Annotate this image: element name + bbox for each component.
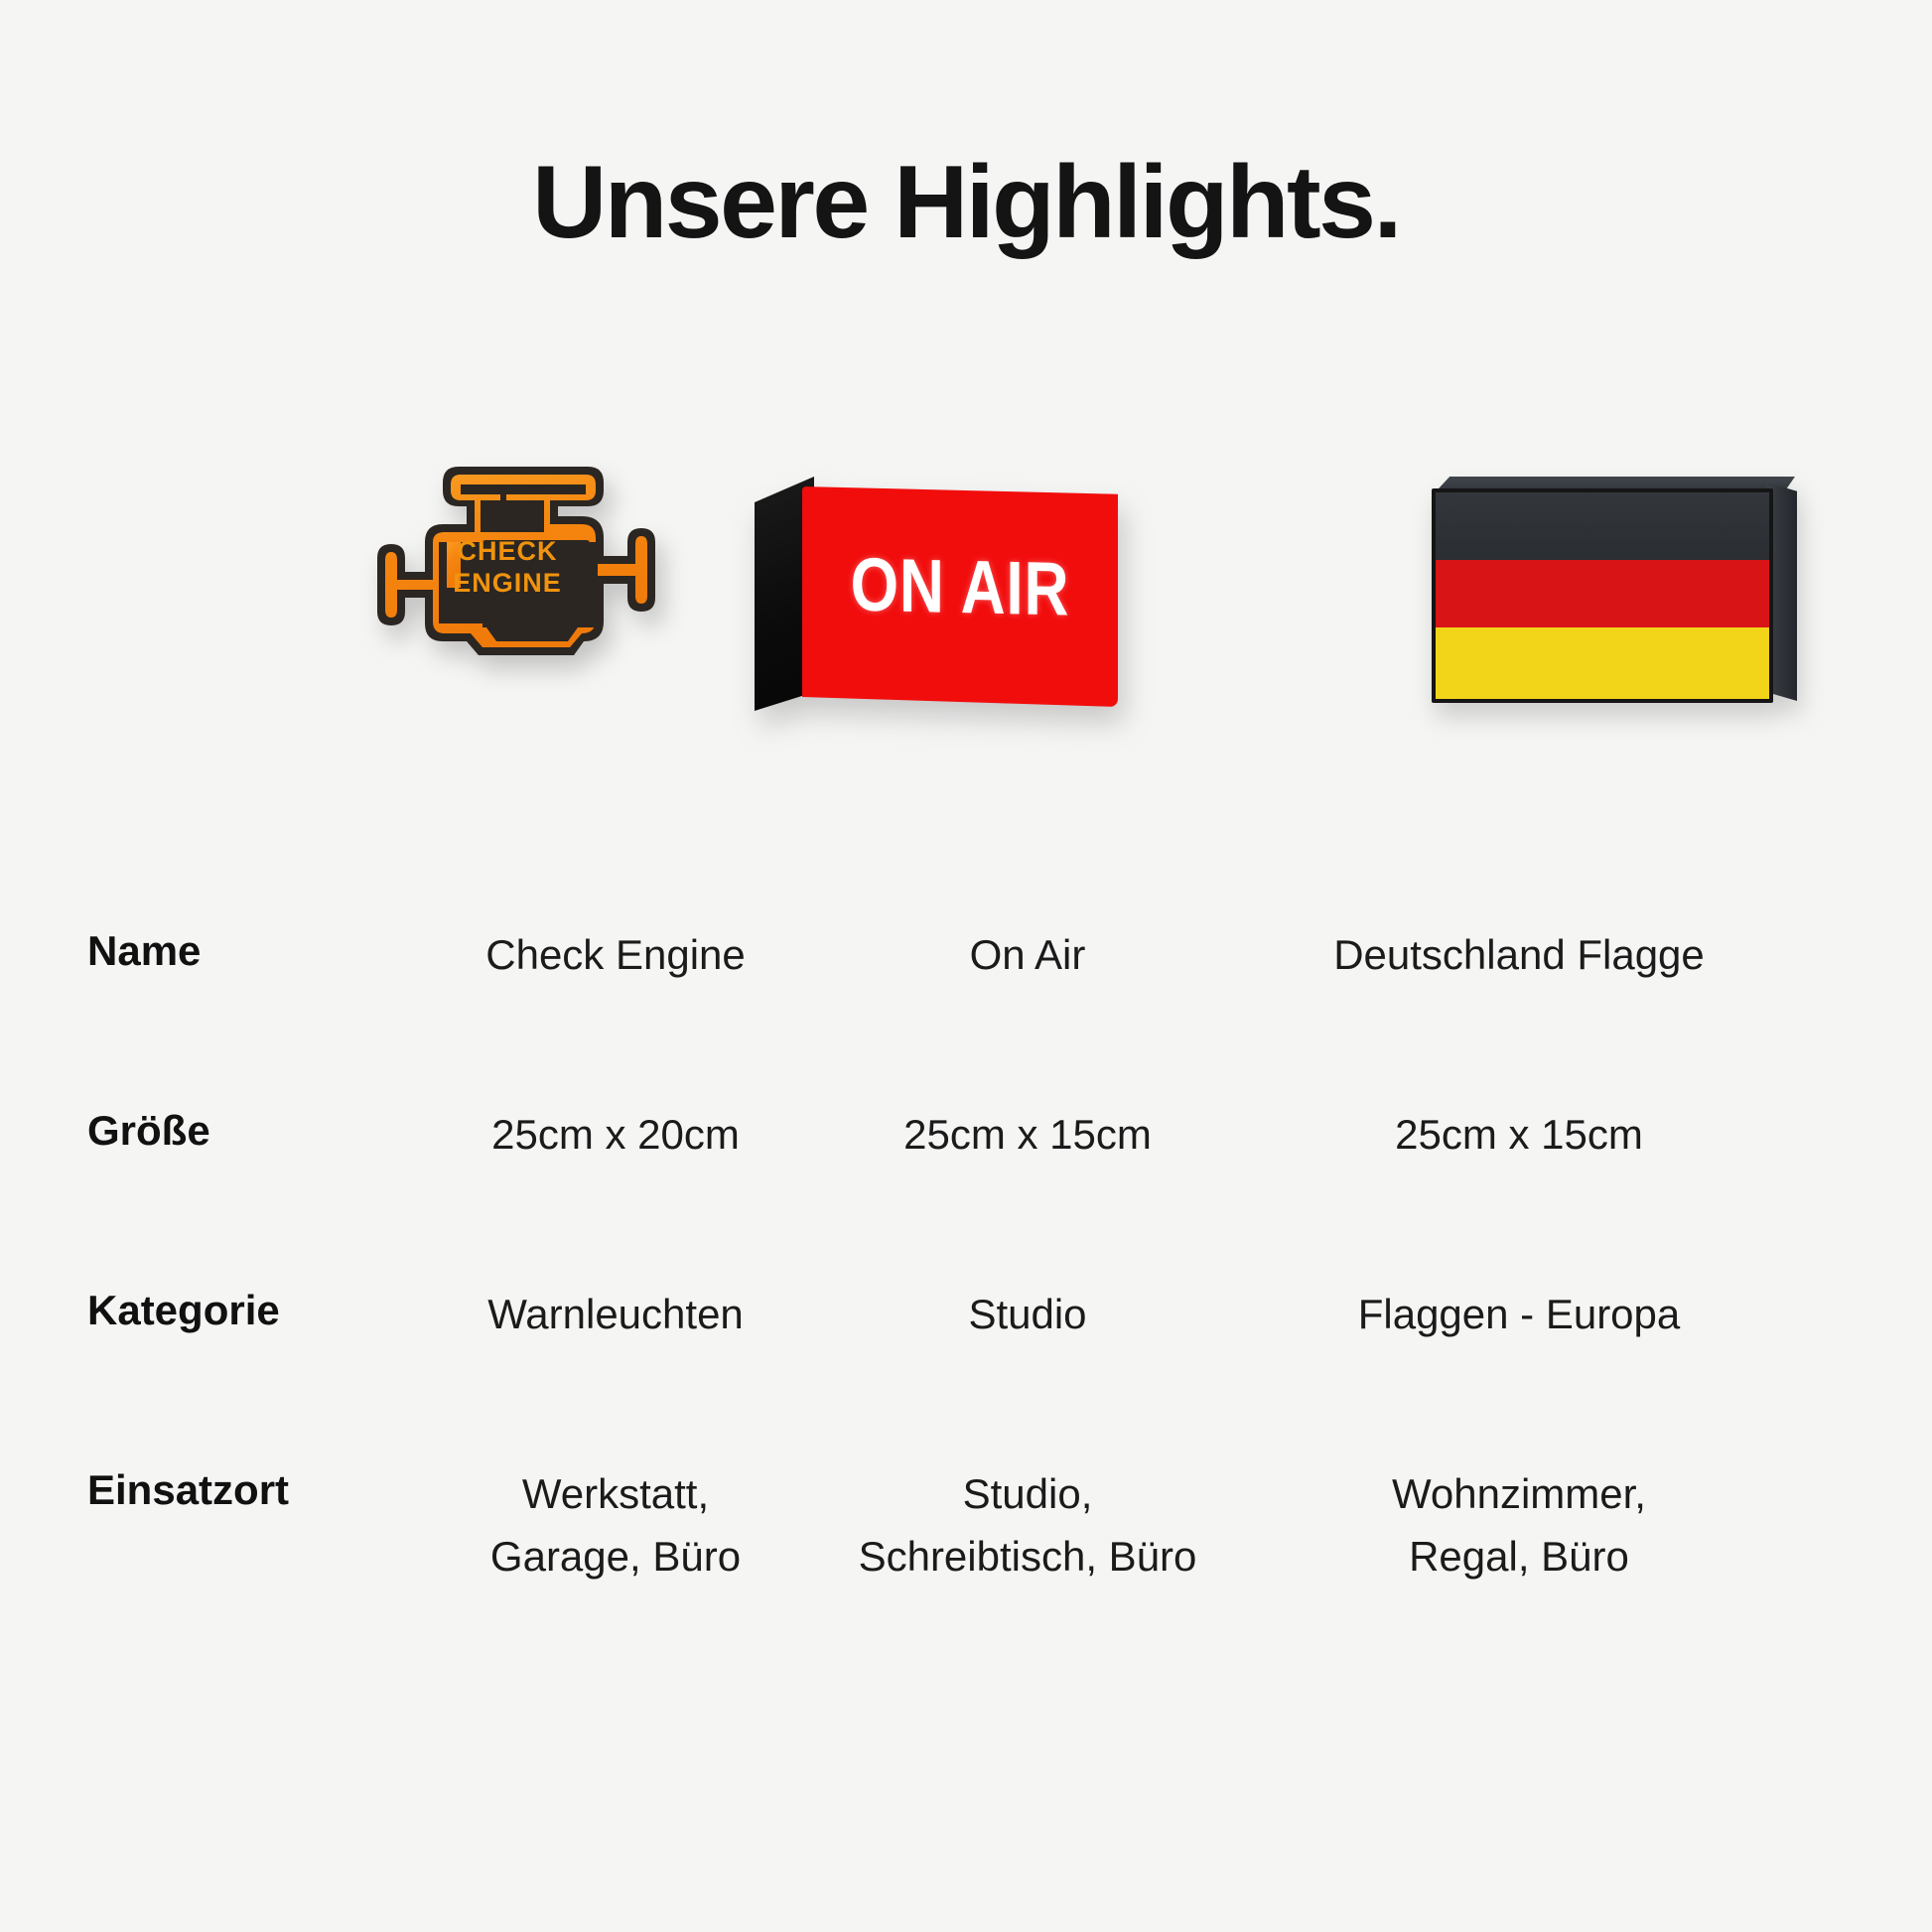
check-engine-lamp-icon [347, 447, 705, 705]
page-title: Unsere Highlights. [0, 149, 1932, 257]
table-row-kategorie: Kategorie Warnleuchten Studio Flaggen - … [0, 1283, 1932, 1345]
row-label-einsatzort: Einsatzort [0, 1462, 417, 1519]
cell-einsatzort-on-air: Studio, Schreibtisch, Büro [814, 1462, 1241, 1587]
cell-name-deutschland-flagge: Deutschland Flagge [1241, 923, 1797, 986]
cell-einsatzort-on-air-line1: Studio, [963, 1470, 1093, 1517]
flag-band-red [1436, 560, 1769, 627]
cell-kategorie-check-engine: Warnleuchten [417, 1283, 814, 1345]
cell-kategorie-on-air: Studio [814, 1283, 1241, 1345]
product-image-row: CHECK ENGINE ON AIR [0, 437, 1932, 854]
cell-name-check-engine: Check Engine [417, 923, 814, 986]
germany-flag-lightbox [1420, 477, 1817, 725]
table-row-einsatzort: Einsatzort Werkstatt, Garage, Büro Studi… [0, 1462, 1932, 1587]
cell-einsatzort-check-engine-line2: Garage, Büro [490, 1533, 741, 1580]
cell-einsatzort-check-engine-line1: Werkstatt, [522, 1470, 709, 1517]
row-label-name: Name [0, 923, 417, 980]
cell-kategorie-deutschland-flagge: Flaggen - Europa [1241, 1283, 1797, 1345]
row-label-groesse: Größe [0, 1103, 417, 1160]
cell-groesse-deutschland-flagge: 25cm x 15cm [1241, 1103, 1797, 1166]
flag-band-gold [1436, 627, 1769, 699]
table-row-name: Name Check Engine On Air Deutschland Fla… [0, 923, 1932, 986]
cell-groesse-check-engine: 25cm x 20cm [417, 1103, 814, 1166]
table-row-groesse: Größe 25cm x 20cm 25cm x 15cm 25cm x 15c… [0, 1103, 1932, 1166]
cell-name-on-air: On Air [814, 923, 1241, 986]
cell-einsatzort-on-air-line2: Schreibtisch, Büro [859, 1533, 1197, 1580]
cell-einsatzort-deutschland-flagge: Wohnzimmer, Regal, Büro [1241, 1462, 1797, 1587]
flag-band-black [1436, 492, 1769, 560]
row-label-kategorie: Kategorie [0, 1283, 417, 1339]
cell-einsatzort-check-engine: Werkstatt, Garage, Büro [417, 1462, 814, 1587]
cell-groesse-on-air: 25cm x 15cm [814, 1103, 1241, 1166]
cell-einsatzort-deutschland-flagge-line1: Wohnzimmer, [1392, 1470, 1646, 1517]
on-air-label: ON AIR [831, 541, 1090, 633]
cell-einsatzort-deutschland-flagge-line2: Regal, Büro [1409, 1533, 1629, 1580]
product-image-on-air[interactable]: ON AIR [755, 437, 1172, 854]
flag-front-panel [1432, 488, 1773, 703]
product-image-check-engine[interactable]: CHECK ENGINE [328, 437, 745, 854]
highlights-page: Unsere Highlights. [0, 0, 1932, 1932]
on-air-front-panel: ON AIR [802, 486, 1118, 707]
on-air-lightbox: ON AIR [755, 477, 1152, 735]
spec-comparison-table: Name Check Engine On Air Deutschland Fla… [0, 923, 1932, 1587]
product-image-deutschland-flagge[interactable] [1390, 437, 1866, 854]
